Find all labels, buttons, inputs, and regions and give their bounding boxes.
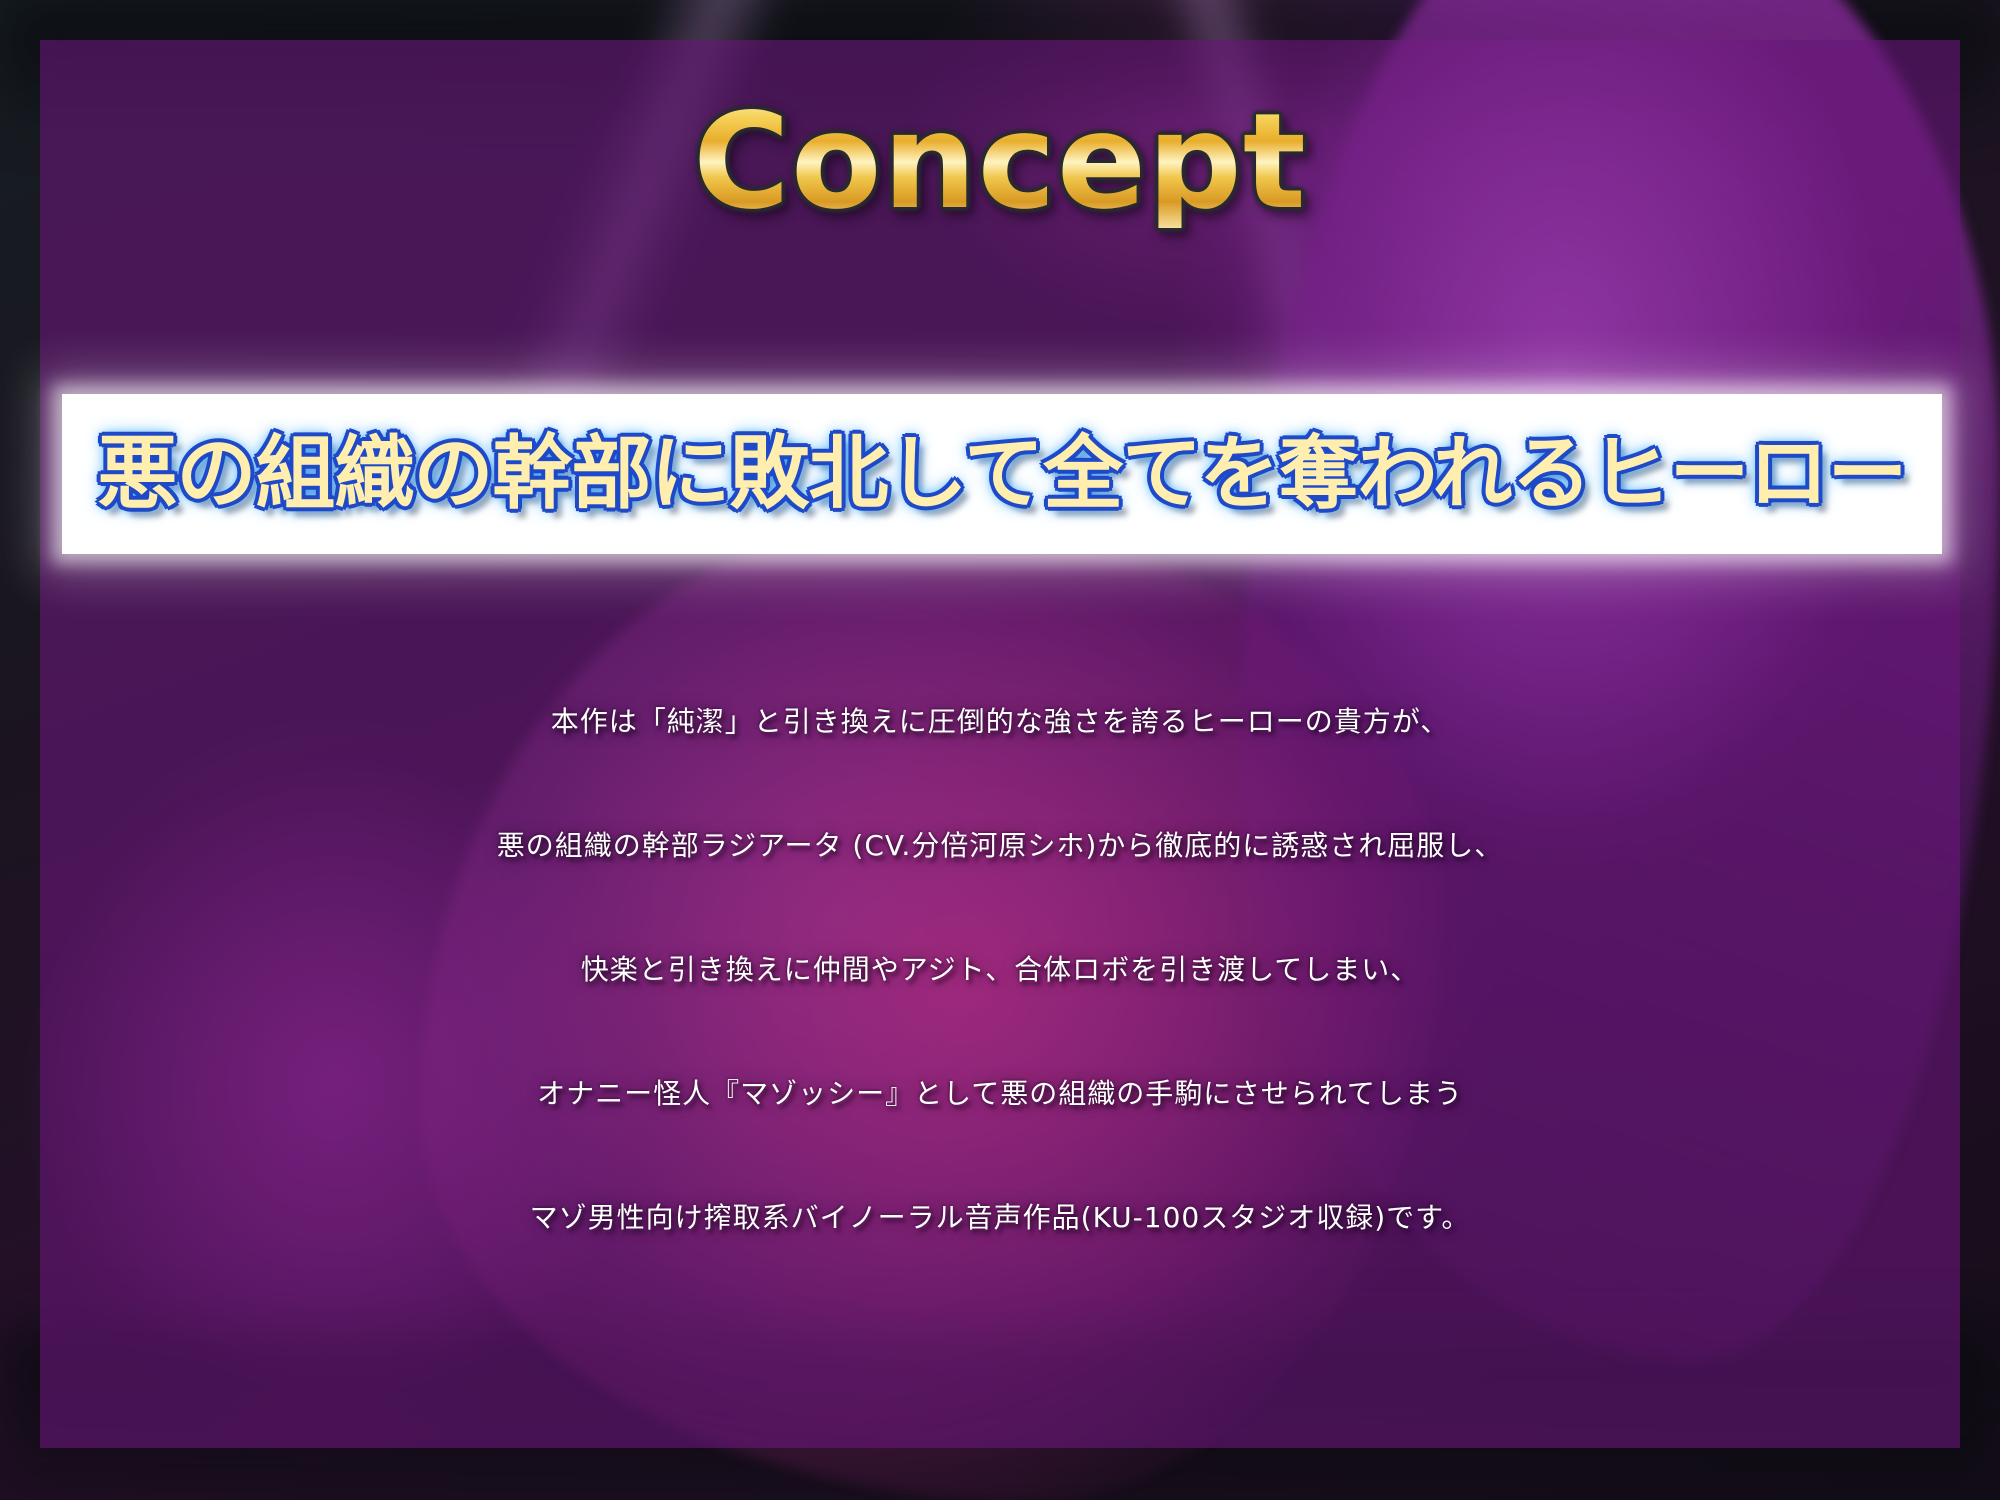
screenshot-root: Concept Concept 悪の組織の幹部に敗北して全てを奪われるヒーロー … bbox=[0, 0, 2000, 1500]
description-paragraph: 本作は「純潔」と引き換えに圧倒的な強さを誇るヒーローの貴方が、 悪の組織の幹部ラ… bbox=[60, 660, 1940, 1280]
headline-banner-text: 悪の組織の幹部に敗北して全てを奪われるヒーロー bbox=[98, 434, 1907, 514]
description-line: オナニー怪人『マゾッシー』として悪の組織の手駒にさせられてしまう bbox=[60, 1032, 1940, 1156]
page-title: Concept Concept bbox=[0, 96, 2000, 228]
headline-banner: 悪の組織の幹部に敗北して全てを奪われるヒーロー bbox=[62, 394, 1942, 554]
description-line: 本作は「純潔」と引き換えに圧倒的な強さを誇るヒーローの貴方が、 bbox=[60, 660, 1940, 784]
description-line: 快楽と引き換えに仲間やアジト、合体ロボを引き渡してしまい、 bbox=[60, 908, 1940, 1032]
description-line: 悪の組織の幹部ラジアータ (CV.分倍河原シホ)から徹底的に誘惑され屈服し、 bbox=[60, 784, 1940, 908]
description-line: マゾ男性向け搾取系バイノーラル音声作品(KU-100スタジオ収録)です。 bbox=[60, 1156, 1940, 1280]
page-title-text: Concept bbox=[693, 96, 1307, 228]
